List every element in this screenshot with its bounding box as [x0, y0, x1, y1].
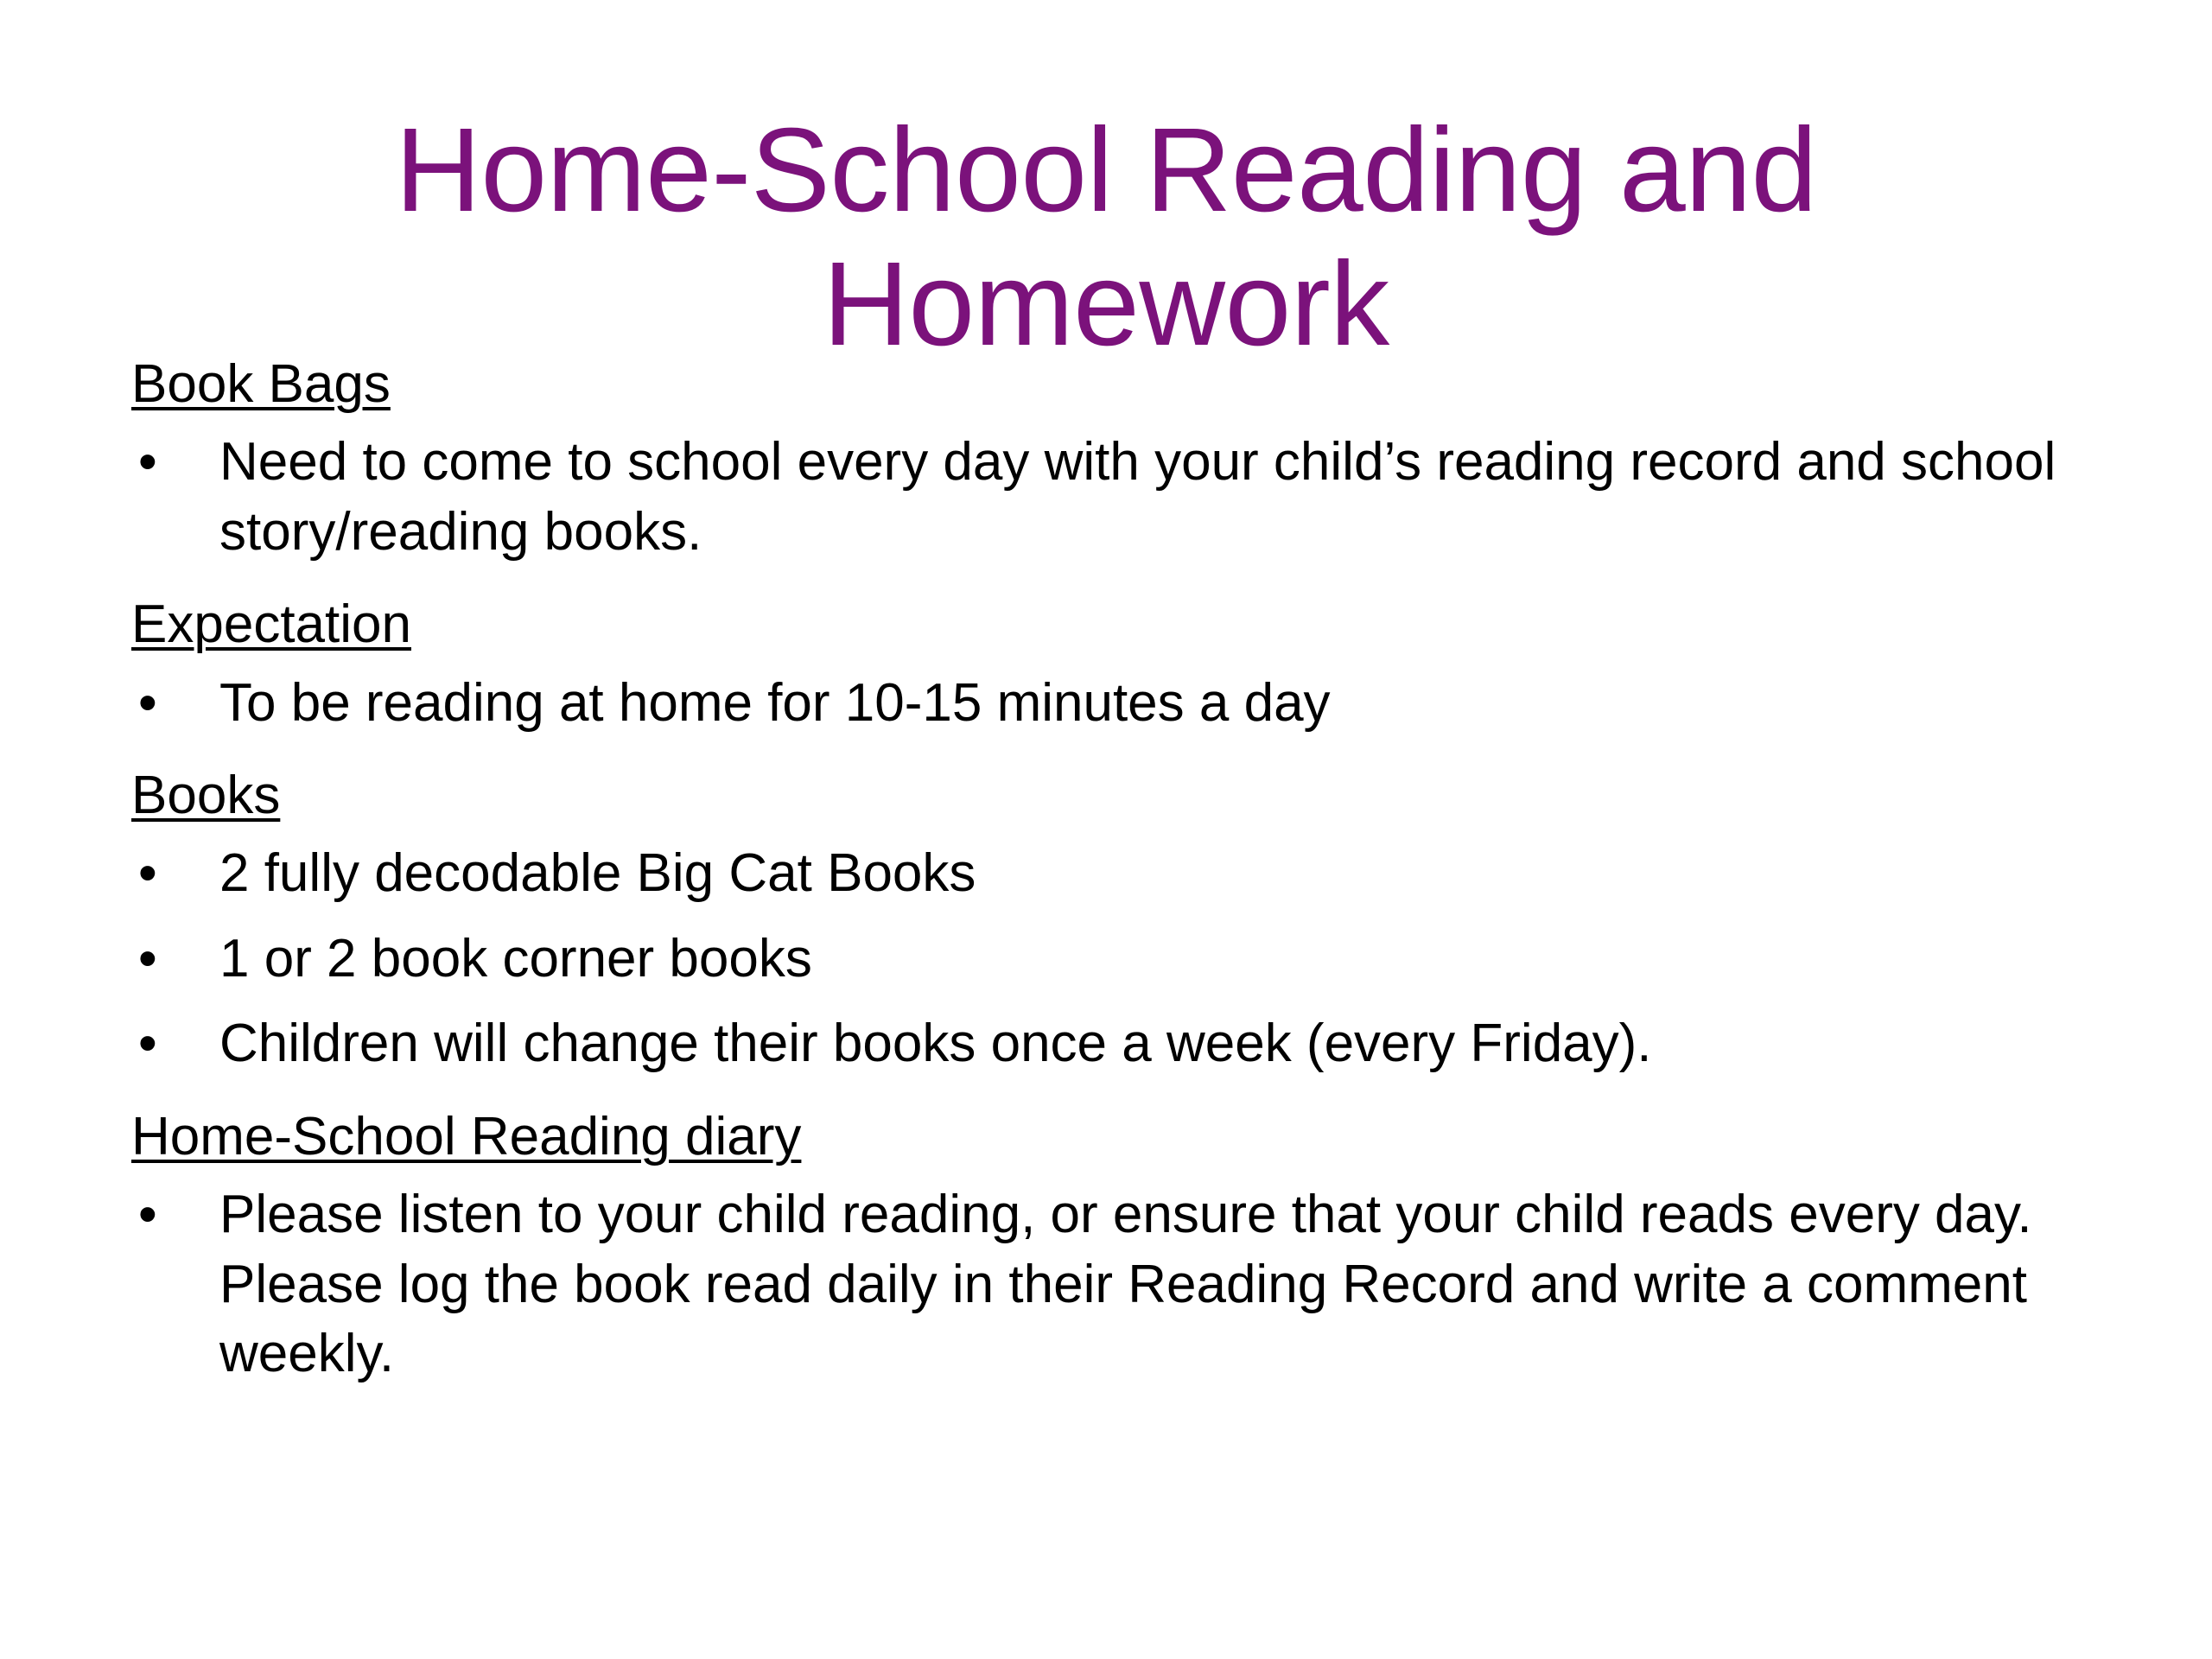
bullet-list: • To be reading at home for 10-15 minute… — [131, 669, 2084, 739]
list-item-text: 1 or 2 book corner books — [219, 929, 812, 988]
page-title: Home-School Reading and Homework — [259, 104, 1953, 371]
slide-canvas: Home-School Reading and Homework Book Ba… — [0, 0, 2212, 1659]
list-item-text: Children will change their books once a … — [219, 1014, 1652, 1073]
list-item: • Please listen to your child reading, o… — [131, 1180, 2084, 1389]
section-heading: Expectation — [131, 593, 411, 656]
list-item-text: Need to come to school every day with yo… — [219, 432, 2056, 562]
bullet-dot-icon: • — [138, 1009, 164, 1079]
slide-body: Book Bags • Need to come to school every… — [131, 353, 2084, 1412]
section-heading: Home-School Reading diary — [131, 1105, 801, 1168]
bullet-dot-icon: • — [138, 428, 164, 498]
section-expectation: Expectation • To be reading at home for … — [131, 593, 2084, 738]
bullet-dot-icon: • — [138, 925, 164, 995]
bullet-dot-icon: • — [138, 1180, 164, 1250]
section-books: Books • 2 fully decodable Big Cat Books … — [131, 764, 2084, 1079]
bullet-list: • 2 fully decodable Big Cat Books • 1 or… — [131, 839, 2084, 1079]
bullet-dot-icon: • — [138, 839, 164, 909]
section-home-school-reading-diary: Home-School Reading diary • Please liste… — [131, 1105, 2084, 1389]
section-book-bags: Book Bags • Need to come to school every… — [131, 353, 2084, 567]
bullet-list: • Need to come to school every day with … — [131, 428, 2084, 567]
section-heading: Books — [131, 764, 280, 827]
list-item: • Children will change their books once … — [131, 1009, 2084, 1079]
section-heading: Book Bags — [131, 353, 391, 416]
list-item: • Need to come to school every day with … — [131, 428, 2084, 567]
bullet-dot-icon: • — [138, 669, 164, 739]
list-item-text: To be reading at home for 10-15 minutes … — [219, 673, 1331, 733]
list-item-text: Please listen to your child reading, or … — [219, 1185, 2032, 1383]
bullet-list: • Please listen to your child reading, o… — [131, 1180, 2084, 1389]
list-item: • 2 fully decodable Big Cat Books — [131, 839, 2084, 909]
list-item-text: 2 fully decodable Big Cat Books — [219, 843, 976, 903]
list-item: • 1 or 2 book corner books — [131, 925, 2084, 995]
list-item: • To be reading at home for 10-15 minute… — [131, 669, 2084, 739]
